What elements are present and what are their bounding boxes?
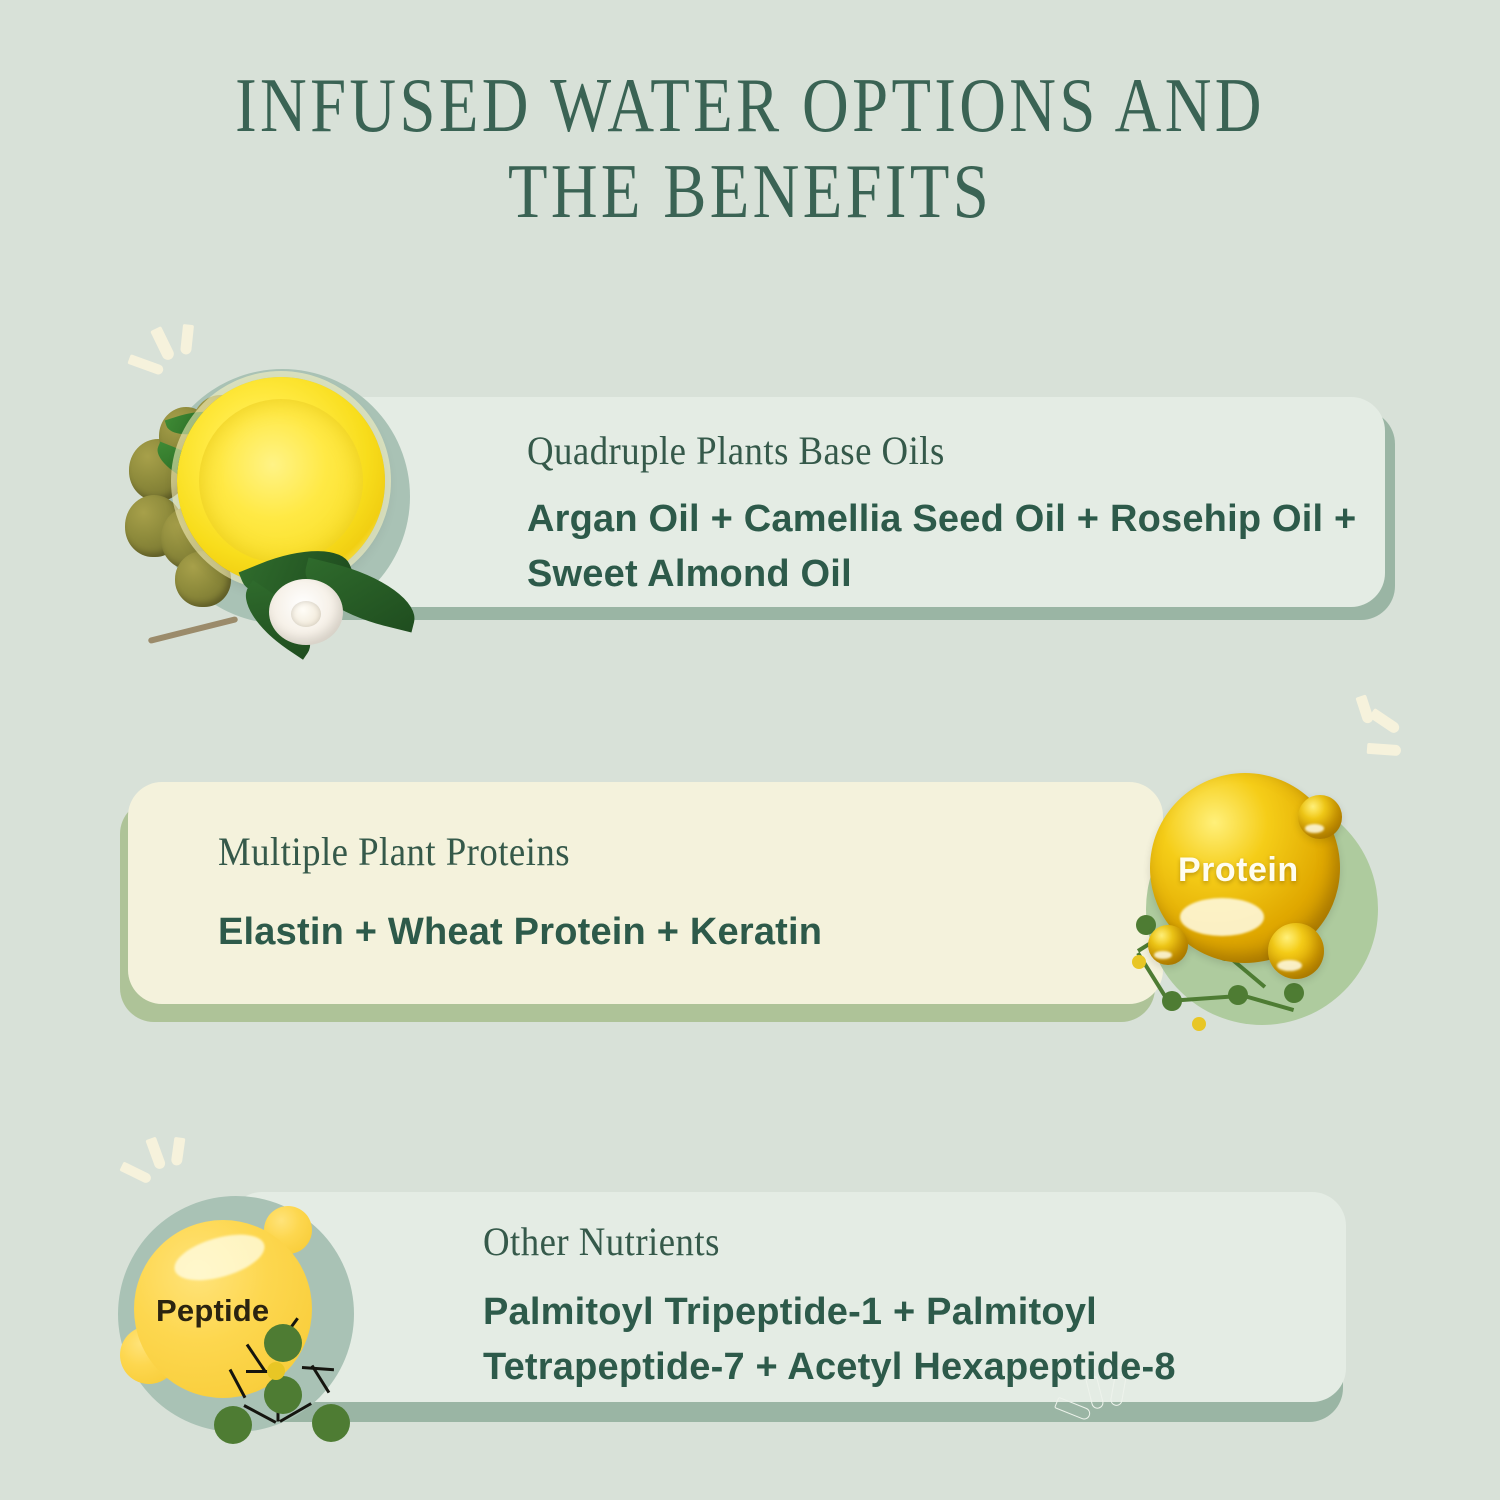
protein-droplet-small-icon — [1298, 795, 1342, 839]
molecule-node — [264, 1376, 302, 1414]
card-other-nutrients-label: Other Nutrients — [483, 1218, 720, 1265]
base-oils-illustration — [125, 355, 435, 655]
card-plant-proteins[interactable] — [128, 782, 1163, 1004]
molecule-node — [1162, 991, 1182, 1011]
card-base-oils-label: Quadruple Plants Base Oils — [527, 427, 945, 474]
card-base-oils-value: Argan Oil + Camellia Seed Oil + Rosehip … — [527, 492, 1367, 602]
camellia-stem — [148, 616, 239, 644]
card-other-nutrients-value-line-2: Tetrapeptide-7 + Acetyl Hexapeptide-8 — [483, 1340, 1313, 1395]
molecule-node-small — [1192, 1017, 1206, 1031]
card-other-nutrients-value-line-1: Palmitoyl Tripeptide-1 + Palmitoyl — [483, 1285, 1313, 1340]
camellia-flower-icon — [269, 579, 343, 645]
peptide-illustration: Peptide — [112, 1168, 412, 1468]
page-title-line-2: THE BENEFITS — [120, 148, 1380, 234]
peptide-caption: Peptide — [156, 1293, 269, 1329]
protein-droplet-small-icon — [1148, 925, 1188, 965]
card-other-nutrients-value: Palmitoyl Tripeptide-1 + Palmitoyl Tetra… — [483, 1285, 1313, 1395]
page-title-line-1: INFUSED WATER OPTIONS AND — [120, 62, 1380, 148]
page-title: INFUSED WATER OPTIONS AND THE BENEFITS — [0, 62, 1500, 234]
card-plant-proteins-value: Elastin + Wheat Protein + Keratin — [218, 905, 1078, 960]
card-base-oils-value-line-1: Argan Oil + Camellia Seed Oil + Rosehip … — [527, 492, 1367, 547]
molecule-node — [312, 1404, 350, 1442]
molecule-node — [1228, 985, 1248, 1005]
oil-bowl-icon — [177, 377, 385, 585]
molecule-node — [1284, 983, 1304, 1003]
protein-caption: Protein — [1178, 851, 1299, 890]
molecule-node — [264, 1324, 302, 1362]
molecule-node — [214, 1406, 252, 1444]
protein-droplet-small-icon — [1268, 923, 1324, 979]
card-plant-proteins-label: Multiple Plant Proteins — [218, 828, 570, 875]
card-base-oils-value-line-2: Sweet Almond Oil — [527, 547, 1367, 602]
molecule-node-small — [267, 1362, 285, 1380]
card-plant-proteins-value-line-1: Elastin + Wheat Protein + Keratin — [218, 905, 1078, 960]
protein-illustration: Protein — [1128, 755, 1428, 1045]
molecule-node-small — [1132, 955, 1146, 969]
